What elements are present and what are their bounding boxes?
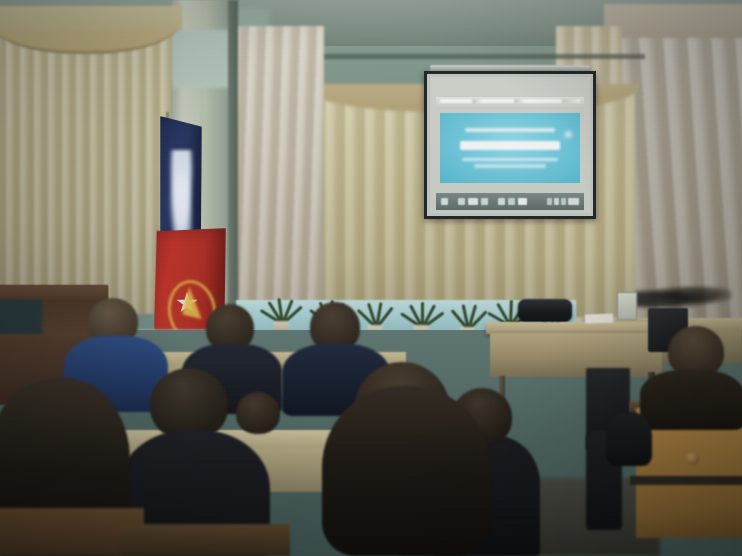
slide-body-line-2	[474, 164, 547, 168]
column-shadow-edge	[228, 0, 238, 310]
media-icon	[498, 198, 505, 205]
student-far-right-head	[606, 412, 652, 466]
desk-knob	[686, 452, 699, 465]
language-icon	[561, 198, 566, 205]
potted-plant	[398, 286, 444, 330]
stage-dark-recess	[0, 300, 42, 334]
slide-subtitle-line	[465, 128, 555, 132]
student-long-hair-hair	[322, 386, 490, 556]
projected-slide	[440, 113, 580, 183]
operator-at-computer-body	[640, 370, 742, 430]
photograph-scene: School assembly hall presentation	[0, 0, 742, 556]
projected-taskbar	[436, 193, 584, 210]
student-midground-head	[236, 392, 280, 434]
potted-plant	[258, 282, 304, 326]
presenter-table-apron	[490, 333, 662, 377]
paper-sheet	[585, 314, 613, 324]
screen-glare	[565, 131, 572, 138]
document-icon	[508, 198, 515, 205]
slide-headline	[460, 141, 561, 150]
wall-light-panel	[171, 30, 233, 88]
screen-surface	[430, 77, 590, 213]
folder-icon	[458, 198, 465, 205]
slide-body-line-1	[462, 158, 557, 162]
right-curtain-valance	[604, 4, 742, 38]
network-icon	[547, 198, 552, 205]
document-stand	[617, 292, 637, 320]
bench-bottom-left-2	[120, 524, 290, 556]
cable-bundle	[636, 286, 732, 308]
blue-flag-emblem-icon	[168, 150, 196, 242]
left-curtain-rail	[0, 6, 182, 30]
mail-icon	[481, 198, 488, 205]
curtain-rod	[300, 54, 645, 59]
wooden-desk-right-rail	[630, 476, 742, 485]
screen-frame	[424, 71, 596, 219]
projected-title-text	[440, 99, 580, 103]
presentation-icon	[518, 198, 527, 205]
projected-title-bar	[436, 97, 584, 109]
left-curtain	[0, 14, 172, 314]
system-tray	[547, 198, 579, 205]
clock-icon	[568, 198, 579, 205]
potted-plant	[444, 288, 490, 332]
volume-icon	[554, 198, 559, 205]
projection-screen	[424, 71, 596, 219]
projector-unit	[518, 299, 572, 322]
browser-icon	[468, 198, 478, 205]
start-icon	[441, 198, 448, 205]
